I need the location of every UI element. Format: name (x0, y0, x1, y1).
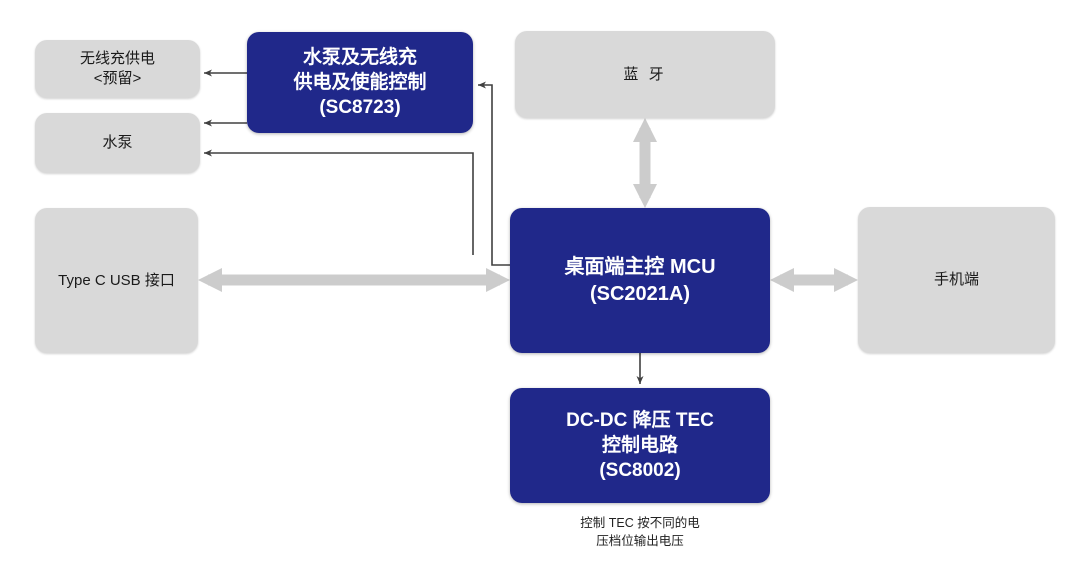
node-typec-usb-label: Type C USB 接口 (58, 271, 175, 291)
node-water-pump-label: 水泵 (102, 133, 132, 153)
connector-mcu-pump (204, 153, 473, 255)
node-bluetooth[interactable]: 蓝 牙 (515, 31, 775, 118)
node-pump-wireless-control[interactable]: 水泵及无线充 供电及使能控制 (SC8723) (247, 32, 473, 133)
node-phone[interactable]: 手机端 (858, 207, 1055, 353)
connector-mcu-phone (770, 268, 858, 292)
node-phone-label: 手机端 (934, 270, 979, 290)
node-dcdc-tec-label: DC-DC 降压 TEC 控制电路 (SC8002) (566, 408, 714, 483)
node-main-mcu[interactable]: 桌面端主控 MCU (SC2021A) (510, 208, 770, 353)
diagram-canvas: 无线充供电 <预留> 水泵 Type C USB 接口 水泵及无线充 供电及使能… (0, 0, 1080, 567)
node-typec-usb[interactable]: Type C USB 接口 (35, 208, 198, 353)
connector-bluetooth-mcu (633, 118, 657, 208)
connector-mcu-sc8723 (478, 85, 510, 265)
node-pump-wireless-control-label: 水泵及无线充 供电及使能控制 (SC8723) (293, 45, 426, 120)
node-main-mcu-label: 桌面端主控 MCU (SC2021A) (564, 254, 715, 307)
caption-tec-note: 控制 TEC 按不同的电 压档位输出电压 (510, 514, 770, 550)
node-bluetooth-label: 蓝 牙 (623, 65, 666, 85)
node-wireless-charge[interactable]: 无线充供电 <预留> (35, 40, 200, 98)
connector-typec-mcu (198, 268, 510, 292)
node-water-pump[interactable]: 水泵 (35, 113, 200, 173)
node-wireless-charge-label: 无线充供电 <预留> (80, 49, 155, 89)
node-dcdc-tec[interactable]: DC-DC 降压 TEC 控制电路 (SC8002) (510, 388, 770, 503)
